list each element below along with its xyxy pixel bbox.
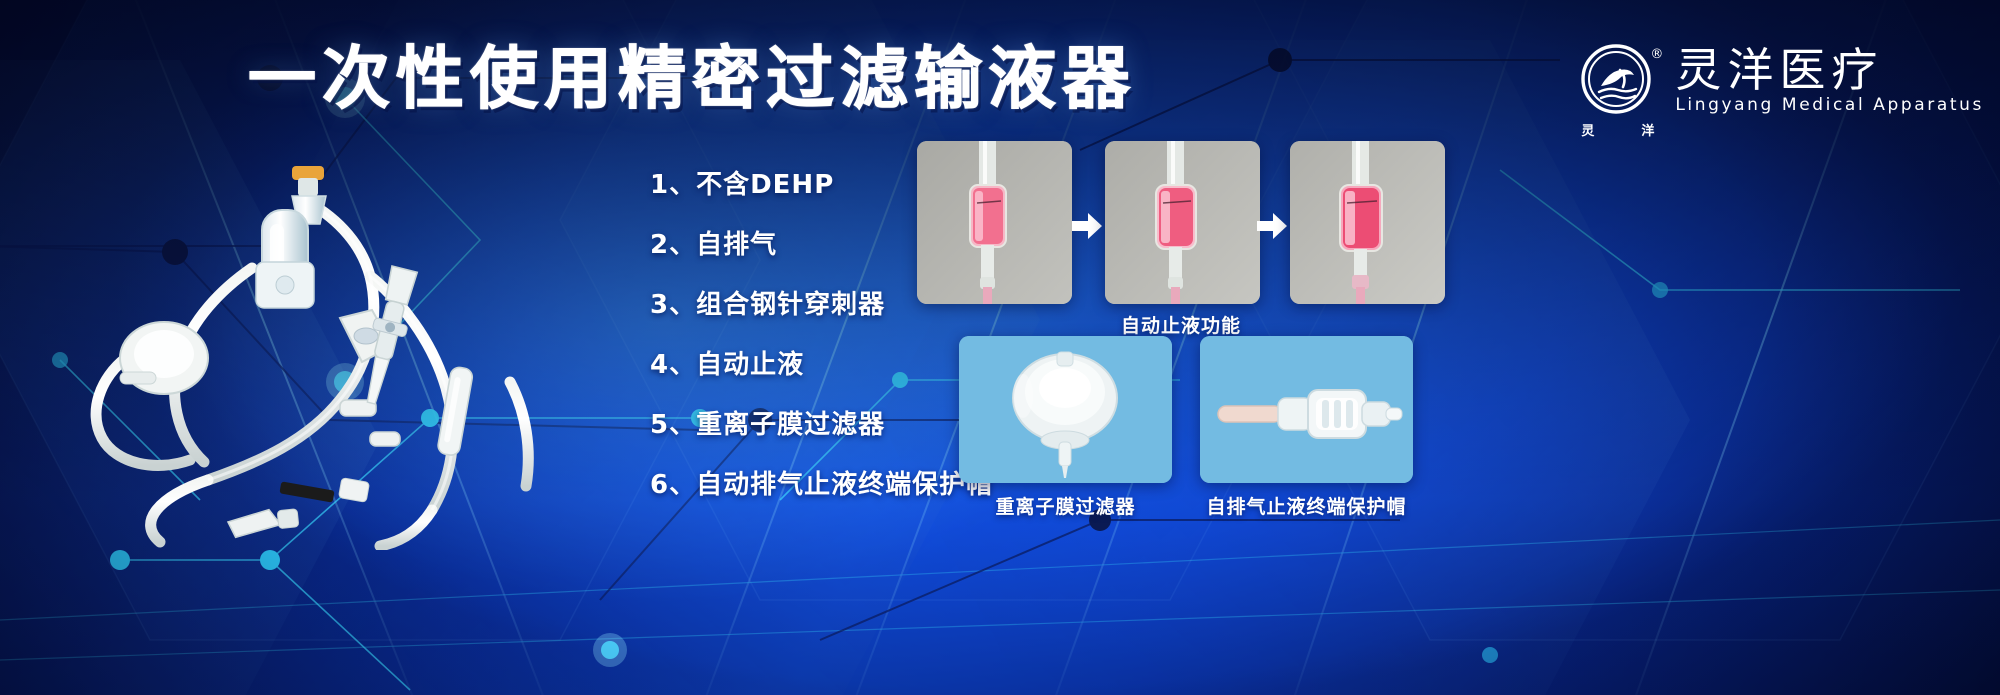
feature-item-3: 3、组合钢针穿刺器 [650,292,950,318]
feature-item-2: 2、自排气 [650,232,950,258]
sequence-arrow-1-icon [1072,213,1102,239]
sequence-photo-3 [1290,141,1445,304]
brand-name-block: 灵洋医疗 Lingyang Medical Apparatus [1675,47,1984,116]
product-banner: 一次性使用精密过滤输液器 ® 灵 洋 灵洋医疗 Lingyang Medical… [0,0,2000,695]
logo-emblem-char-right: 洋 [1641,120,1655,139]
page-title: 一次性使用精密过滤输液器 [248,46,1136,114]
brand-name-cn: 灵洋医疗 [1675,47,1984,94]
sequence-arrow-2-icon [1257,213,1287,239]
sequence-photo-1 [917,141,1072,304]
brand-name-en: Lingyang Medical Apparatus [1675,95,1984,115]
hero-product-photo [40,150,680,550]
detail-caption-protector-cap: 自排气止液终端保护帽 [1200,492,1413,519]
brand-logo: ® 灵 洋 灵洋医疗 Lingyang Medical Apparatus [1579,42,1984,120]
registered-trademark-icon: ® [1650,48,1663,61]
logo-emblem-char-left: 灵 [1581,120,1595,139]
logo-emblem-icon: ® 灵 洋 [1579,42,1657,120]
sequence-caption: 自动止液功能 [917,311,1445,338]
feature-item-4: 4、自动止液 [650,352,950,378]
feature-item-6: 6、自动排气止液终端保护帽 [650,472,950,498]
logo-emblem-caption: 灵 洋 [1579,120,1657,139]
feature-item-5: 5、重离子膜过滤器 [650,412,950,438]
feature-list: 1、不含DEHP 2、自排气 3、组合钢针穿刺器 4、自动止液 5、重离子膜过滤… [650,172,950,498]
detail-caption-filter: 重离子膜过滤器 [959,492,1172,519]
feature-item-1: 1、不含DEHP [650,172,950,198]
detail-photo-protector-cap [1200,336,1413,483]
detail-photo-filter [959,336,1172,483]
sequence-photo-2 [1105,141,1260,304]
